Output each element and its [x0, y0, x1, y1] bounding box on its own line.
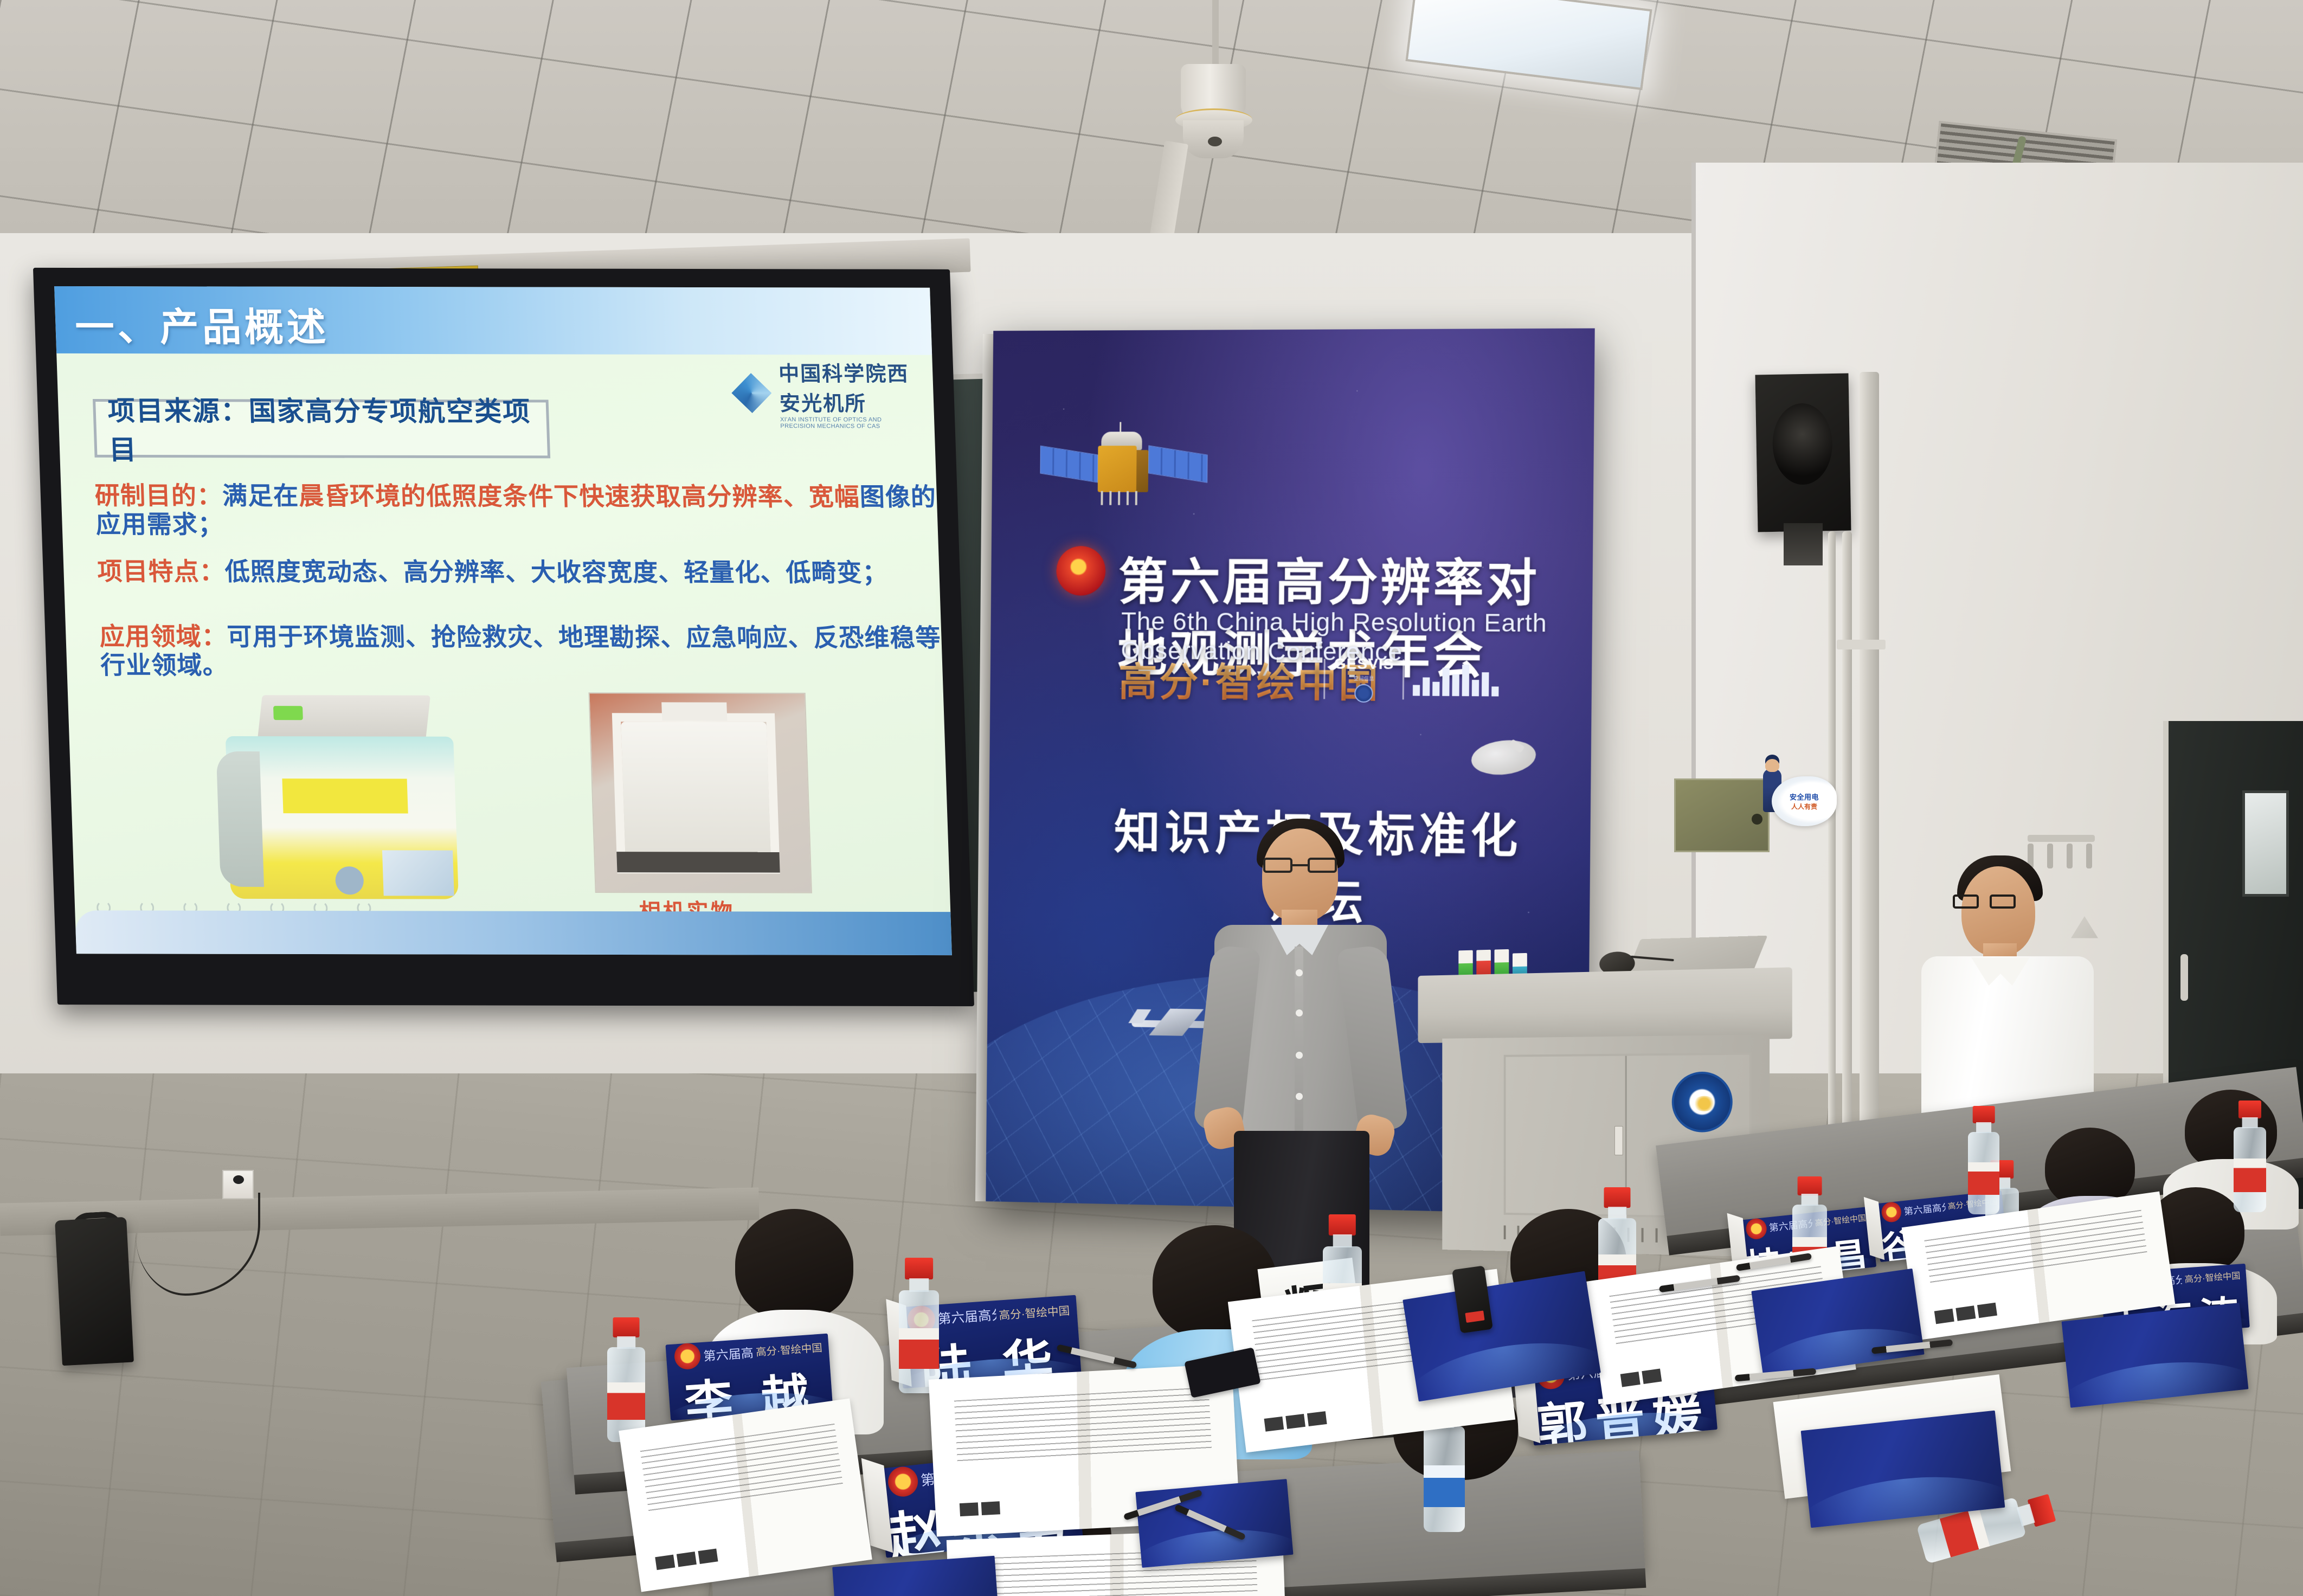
slide-bullet-1: 研制目的：满足在晨昏环境的低照度条件下快速获取高分辨率、宽幅图像的应用需求； — [94, 481, 938, 540]
lectern-door-handle[interactable] — [1614, 1126, 1623, 1155]
gesvis-logo-text: GESVIS — [1334, 655, 1394, 673]
ceiling-fan-hub — [1183, 120, 1244, 158]
wall-pipe-conduit-a — [1842, 531, 1852, 1133]
portable-amplifier — [55, 1217, 134, 1366]
lectern-top-surface — [1418, 967, 1792, 1043]
camera-base — [616, 852, 780, 873]
model-green-indicator — [273, 706, 303, 720]
satellite-icon — [1034, 422, 1196, 509]
standing-attendee-glasses-icon — [1953, 894, 2016, 910]
slide-bullet-1-pre: 满足在 — [222, 481, 299, 510]
bottle-label — [1968, 1162, 1999, 1195]
projection-screen[interactable]: 一、产品概述 中国科学院西安光机所 XI'AN INSTITUTE OF OPT… — [33, 268, 974, 1006]
slide-design-model-image — [214, 687, 477, 905]
bottle-label — [607, 1382, 645, 1420]
slide-bullet-1-highlight: 晨昏环境的低照度条件下快速获取高分辨率、宽幅 — [298, 482, 860, 511]
institute-logo: 中国科学院西安光机所 XI'AN INSTITUTE OF OPTICS AND… — [730, 363, 911, 423]
slide-bullet-2-value: 低照度宽动态、高分辨率、大收容宽度、轻量化、低畸变； — [224, 557, 888, 587]
slide-bullet-2: 项目特点：低照度宽动态、高分辨率、大收容宽度、轻量化、低畸变； — [97, 557, 889, 587]
bottle-label — [899, 1328, 939, 1369]
safety-sticker-line1: 安全用电 — [1790, 791, 1819, 802]
pipe-clamp — [1837, 640, 1886, 649]
presenter-head — [1262, 828, 1338, 922]
bottle-label — [1424, 1465, 1465, 1507]
slide-source-text: 项目来源：国家高分专项航空类项目 — [107, 389, 548, 468]
satellite-solar-panel-left — [1040, 446, 1098, 483]
wall-pipe-conduit-b — [1828, 531, 1836, 1128]
slide-title: 一、产品概述 — [74, 295, 330, 352]
bottle-cap — [905, 1258, 933, 1279]
utility-access-box[interactable] — [1674, 778, 1770, 852]
water-bottle-3 — [899, 1258, 939, 1393]
attendee-head — [735, 1209, 853, 1321]
ceiling-fan-rod — [1212, 0, 1219, 70]
slide-bullet-3: 应用领域：可用于环境监测、抢险救灾、地理勘探、应急响应、反恐维稳等行业领域。 — [99, 622, 943, 681]
placard-header-right: 高分·智绘中国 — [2184, 1269, 2241, 1285]
institute-logo-en: XI'AN INSTITUTE OF OPTICS AND PRECISION … — [780, 416, 912, 429]
slide-bullet-3-key: 应用领域： — [99, 622, 228, 651]
bottle-cap — [1973, 1106, 1995, 1123]
model-panel — [382, 850, 454, 896]
slide-bullet-1-key: 研制目的： — [94, 481, 223, 510]
bottle-cap — [1329, 1214, 1356, 1235]
placard-header-right: 高分·智绘中国 — [998, 1301, 1070, 1322]
handout-papers[interactable] — [619, 1399, 872, 1592]
bottle-label — [2234, 1159, 2266, 1192]
banner-sponsor-marks: GESVIS 空间信息 — [1323, 655, 1499, 703]
wall-speaker — [1755, 374, 1851, 532]
presentation-slide: 一、产品概述 中国科学院西安光机所 XI'AN INSTITUTE OF OPT… — [54, 286, 952, 955]
model-side-lens — [216, 751, 264, 887]
safety-sticker-line2: 人人有责 — [1791, 802, 1817, 811]
bottle-cap — [2238, 1101, 2261, 1118]
conference-room-scene: 一、产品概述 中国科学院西安光机所 XI'AN INSTITUTE OF OPT… — [0, 0, 2303, 1596]
bottle-cap — [613, 1317, 640, 1337]
water-bottle-9 — [1968, 1106, 1999, 1214]
slide-footer-bar — [75, 910, 952, 955]
door-window — [2242, 790, 2289, 897]
door-handle[interactable] — [2180, 954, 2188, 1001]
bottle-cap — [1798, 1176, 1822, 1195]
wall-pipe-main — [1860, 372, 1879, 1131]
bottle-cap — [1604, 1187, 1631, 1208]
slide-camera-photo — [588, 692, 812, 893]
placard-header-left: 第六届高分辨率对地观测学术年会 — [937, 1305, 997, 1328]
placard-header-left: 第六届高分辨率对地观测学术年会 — [703, 1342, 754, 1364]
slide-bullet-2-key: 项目特点： — [97, 557, 226, 585]
safety-notice-sticker: 安全用电 人人有责 — [1772, 776, 1837, 826]
presenter-glasses-icon — [1263, 858, 1337, 874]
wall-corner-edge — [1691, 163, 1696, 1030]
water-bottle — [607, 1317, 645, 1442]
model-port — [335, 866, 364, 894]
water-bottle-10 — [2234, 1101, 2266, 1212]
slide-source-box: 项目来源：国家高分专项航空类项目 — [93, 399, 550, 458]
presenter-button-4 — [1296, 1093, 1303, 1100]
satellite-body — [1098, 446, 1137, 492]
model-yellow-band — [282, 778, 408, 813]
placard-header-right: 高分·智绘中国 — [755, 1339, 822, 1359]
banner-divider-2 — [1403, 659, 1405, 699]
camera-top-block — [661, 702, 727, 720]
satellite-instruments — [1101, 491, 1138, 505]
gesvis-logo: GESVIS 空间信息 — [1334, 655, 1394, 703]
gesvis-seal-icon — [1354, 684, 1373, 703]
speaker-mount-bracket — [1784, 523, 1823, 565]
conference-emblem-icon — [1056, 546, 1106, 596]
presenter — [1202, 819, 1398, 1252]
city-skyline-icon — [1413, 663, 1499, 696]
institute-logo-cn: 中国科学院西安光机所 — [778, 357, 911, 416]
presenter-button — [1296, 969, 1303, 976]
conference-booklet-3[interactable] — [1801, 1411, 2005, 1528]
camera-housing — [621, 722, 770, 857]
institute-logo-mark — [731, 373, 772, 413]
gesvis-logo-sub: 空间信息 — [1354, 675, 1374, 682]
banner-divider — [1323, 659, 1326, 699]
presenter-button-2 — [1296, 1009, 1303, 1016]
university-logo-icon — [1672, 1071, 1733, 1132]
presenter-button-3 — [1296, 1052, 1303, 1059]
